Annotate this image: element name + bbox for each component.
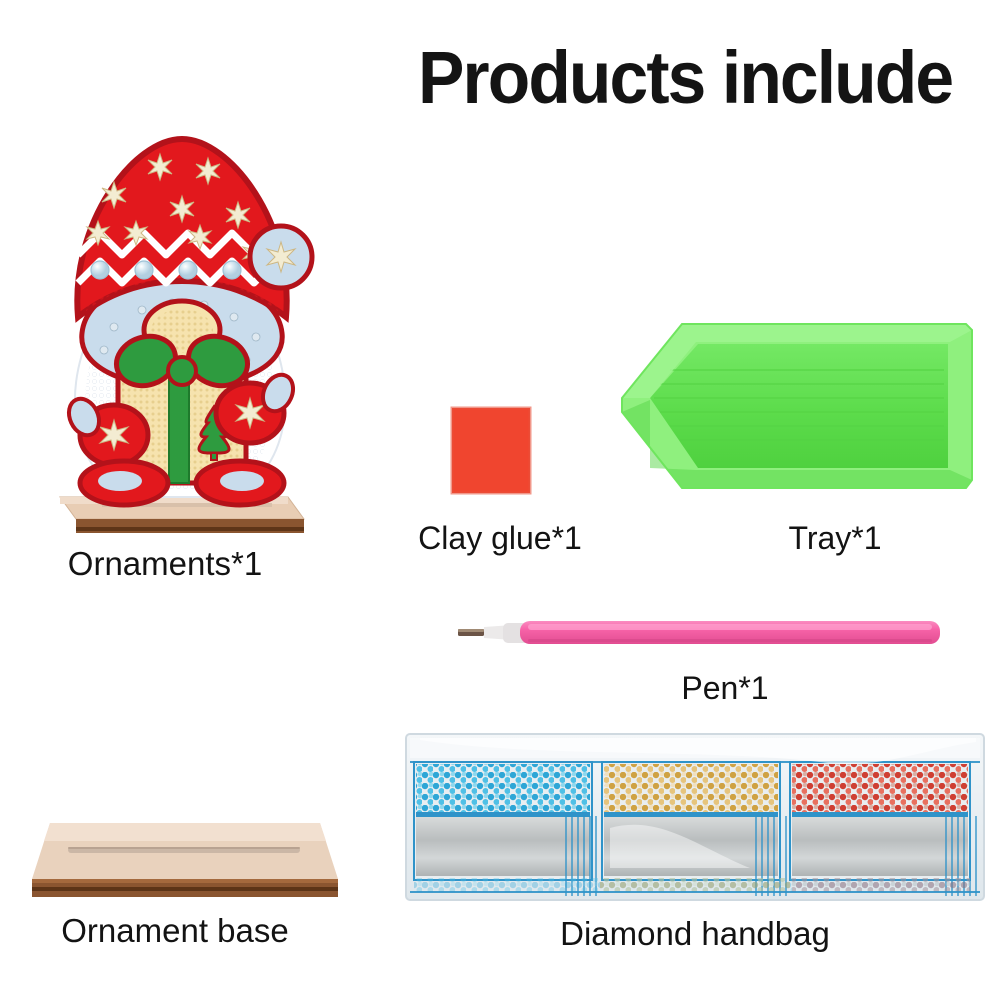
clay-glue-square-icon	[445, 400, 545, 505]
page-title: Products include	[418, 36, 982, 120]
diamond-handbag-icon	[400, 728, 990, 908]
diamond-handbag-label: Diamond handbag	[430, 915, 960, 953]
drill-packet	[790, 762, 970, 880]
gnome-pompom	[250, 226, 312, 288]
ornament-base-label: Ornament base	[0, 912, 350, 950]
pen-label: Pen*1	[600, 670, 850, 707]
diamond-pen-icon	[448, 612, 948, 664]
clay-glue-label: Clay glue*1	[340, 520, 660, 557]
tray-label: Tray*1	[680, 520, 990, 557]
diamond-tray-icon	[610, 300, 985, 515]
gnome-ornament-icon	[42, 105, 322, 545]
ornaments-label: Ornaments*1	[0, 545, 330, 583]
product-include-infographic: Products include	[0, 0, 1001, 1001]
wooden-base-icon	[20, 805, 350, 915]
